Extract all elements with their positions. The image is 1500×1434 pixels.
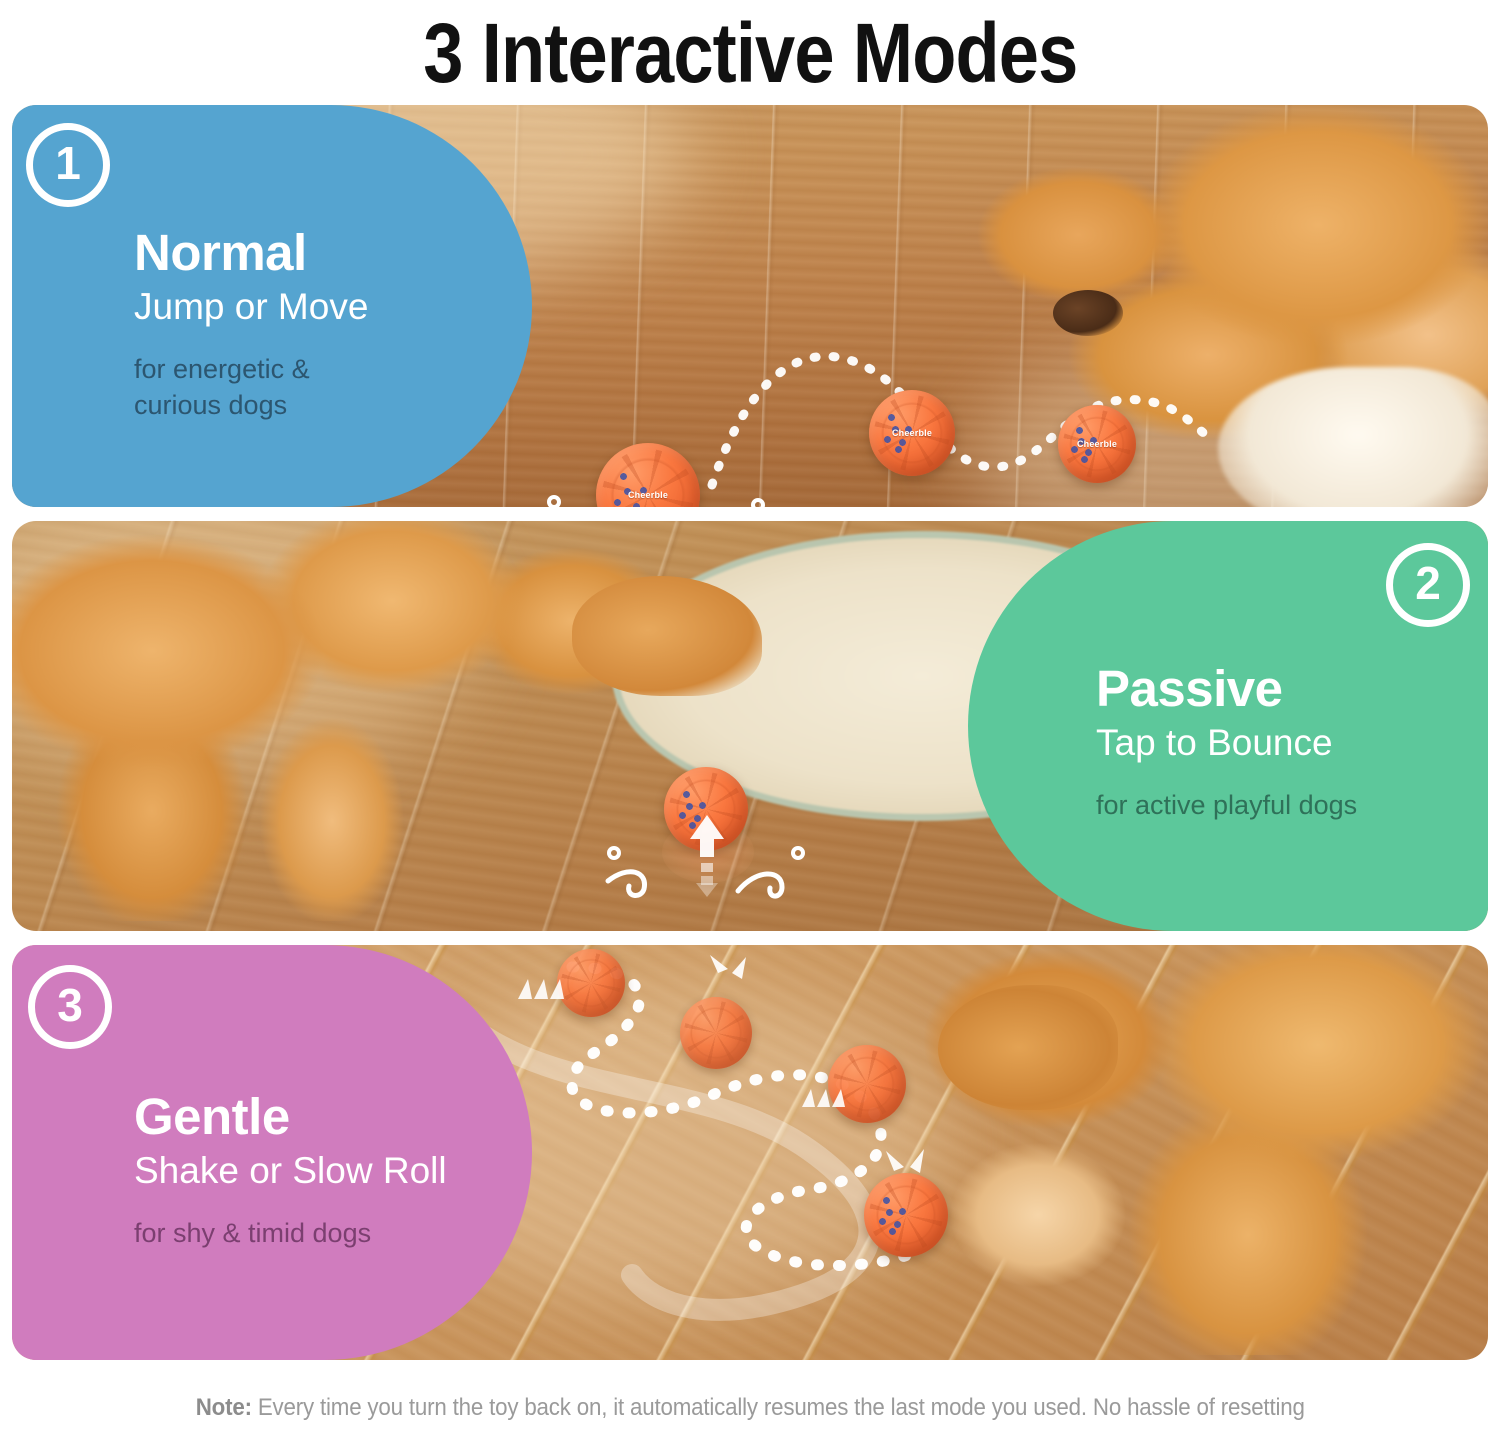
- mode-description-line: for active playful dogs: [1096, 787, 1488, 823]
- toy-ball: Cheerble: [596, 443, 700, 507]
- toy-ball: [828, 1045, 906, 1123]
- mode-badge-3: 3: [28, 965, 112, 1049]
- ball-brand-label: Cheerble: [1077, 439, 1117, 449]
- mode-badge-number: 3: [57, 982, 83, 1028]
- mode-description: for shy & timid dogs: [134, 1215, 532, 1251]
- toy-ball: [664, 767, 748, 851]
- ball-brand-label: Cheerble: [628, 490, 668, 500]
- ball-brand-label: Cheerble: [892, 428, 932, 438]
- page-header: 3 Interactive Modes: [0, 0, 1500, 105]
- ball-dots: [864, 1173, 948, 1257]
- mode-badge-number: 1: [55, 140, 81, 186]
- toy-ball: [680, 997, 752, 1069]
- mode-subtitle: Tap to Bounce: [1096, 719, 1488, 767]
- mode-description-line: for shy & timid dogs: [134, 1215, 532, 1251]
- mode-title: Normal: [134, 224, 532, 282]
- toy-ball: [864, 1173, 948, 1257]
- toy-ball: Cheerble: [869, 390, 955, 476]
- mode-description: for energetic & curious dogs: [134, 351, 532, 423]
- mode-description-line: curious dogs: [134, 387, 532, 423]
- page-title: 3 Interactive Modes: [423, 11, 1077, 95]
- footer-note-label: Note:: [196, 1394, 252, 1421]
- mode-description-line: for energetic &: [134, 351, 532, 387]
- mode-title: Passive: [1096, 660, 1488, 718]
- mode-title: Gentle: [134, 1088, 532, 1146]
- ball-seam: [561, 953, 621, 1013]
- toy-ball: Cheerble: [1058, 405, 1136, 483]
- mode-panel-gentle[interactable]: Gentle Shake or Slow Roll for shy & timi…: [12, 945, 1488, 1360]
- footer-note-text: Every time you turn the toy back on, it …: [252, 1394, 1305, 1421]
- mode-description: for active playful dogs: [1096, 787, 1488, 823]
- ball-seam: [684, 1001, 747, 1064]
- mode-badge-1: 1: [26, 123, 110, 207]
- mode-subtitle: Jump or Move: [134, 283, 532, 331]
- mode-subtitle: Shake or Slow Roll: [134, 1147, 532, 1195]
- footer-note: Note: Every time you turn the toy back o…: [0, 1374, 1500, 1434]
- mode-badge-number: 2: [1415, 560, 1441, 606]
- toy-ball: [557, 949, 625, 1017]
- mode-panel-passive[interactable]: Passive Tap to Bounce for active playful…: [12, 521, 1488, 931]
- ball-seam: [833, 1050, 902, 1119]
- mode-panel-normal[interactable]: Cheerble Cheerble Cheerble: [12, 105, 1488, 507]
- mode-badge-2: 2: [1386, 543, 1470, 627]
- ball-dots: [664, 767, 748, 851]
- modes-list: Cheerble Cheerble Cheerble: [0, 105, 1500, 1360]
